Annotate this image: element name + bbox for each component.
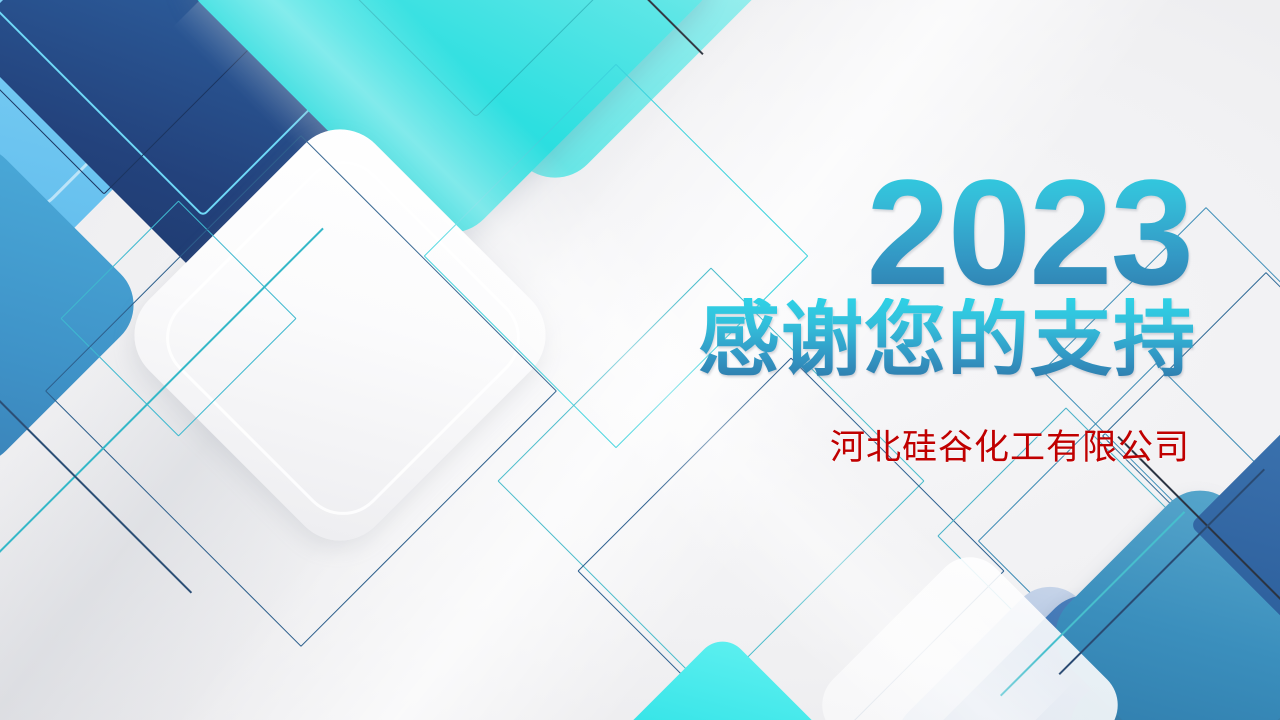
company-name: 河北硅谷化工有限公司: [600, 427, 1190, 469]
year-heading: 2023: [600, 160, 1192, 304]
thank-you-headline: 感谢您的支持: [600, 298, 1196, 385]
closing-slide: 2023 感谢您的支持 河北硅谷化工有限公司: [0, 0, 1280, 720]
text-content-block: 2023 感谢您的支持 河北硅谷化工有限公司: [600, 160, 1200, 469]
